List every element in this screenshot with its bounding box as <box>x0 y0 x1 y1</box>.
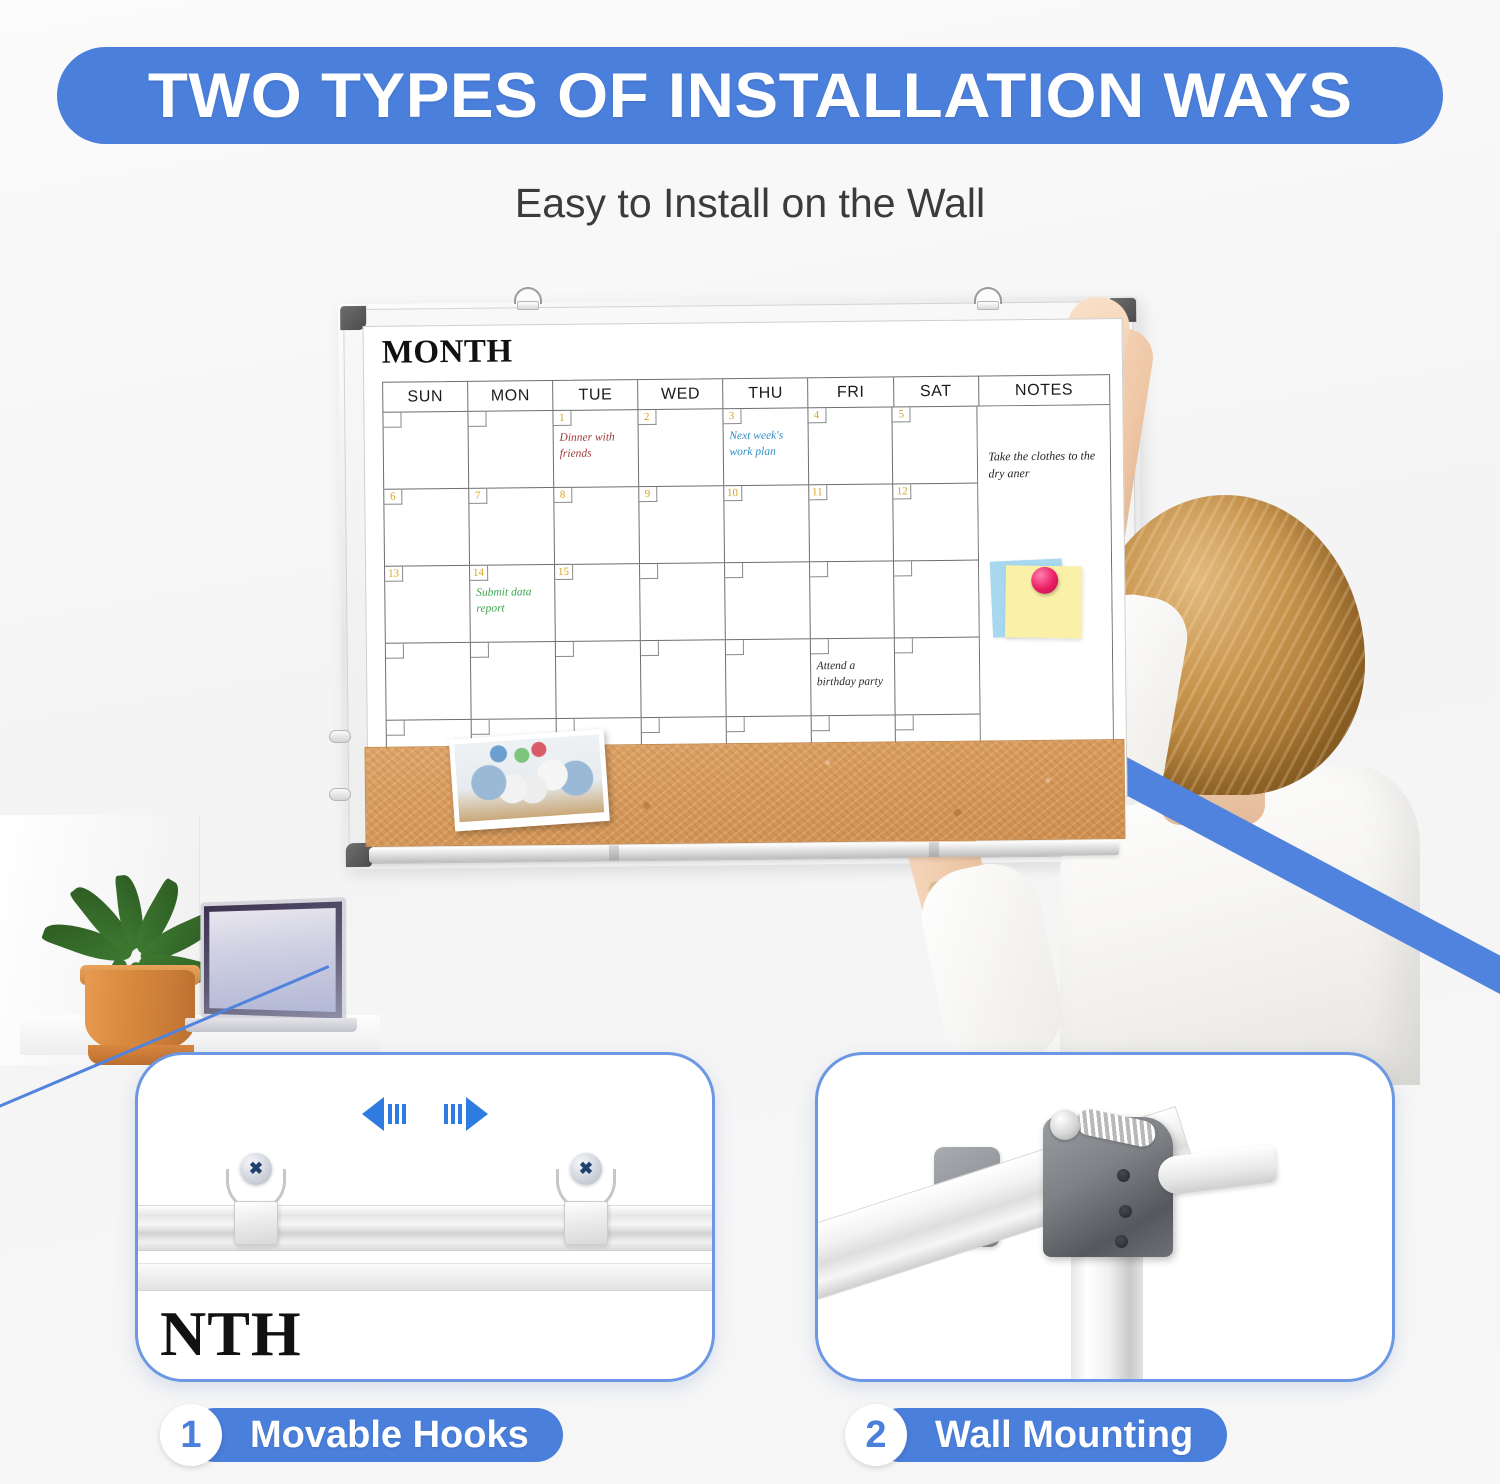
arrow-right-tail <box>444 1104 462 1124</box>
calendar-column-header-fri: FRI <box>809 377 894 407</box>
calendar-day-cell <box>556 641 642 718</box>
calendar-day-cell <box>468 411 554 488</box>
wall-hanger-right-icon <box>969 287 1007 309</box>
page-title: TWO TYPES OF INSTALLATION WAYS <box>148 60 1353 132</box>
calendar-week-row: 6789101112 <box>384 484 979 567</box>
calendar-day-cell <box>895 638 981 715</box>
screw-cross-icon: ✖ <box>247 1160 265 1178</box>
notes-column: Take the clothes to the dry aner <box>978 405 1114 790</box>
calendar-day-cell <box>810 561 896 638</box>
calendar-day-cell <box>894 561 980 638</box>
calendar-day-number: 1 <box>553 411 571 426</box>
panel-wall-mounting <box>815 1052 1395 1382</box>
bracket-hole <box>1115 1235 1128 1248</box>
header-banner: TWO TYPES OF INSTALLATION WAYS <box>57 47 1443 144</box>
calendar-surface: MONTH SUNMONTUEWEDTHUFRISATNOTES 1Dinner… <box>363 318 1128 805</box>
calendar-day-number <box>894 561 912 576</box>
calendar-event-note: Submit data report <box>476 585 551 617</box>
calendar-day-cell: 13 <box>385 566 471 643</box>
calendar-event-note: Next week's work plan <box>729 428 804 460</box>
calendar-week-row: 1Dinner with friends23Next week's work p… <box>383 407 978 490</box>
screw-icon <box>1050 1110 1080 1140</box>
screw-icon: ✖ <box>240 1153 272 1185</box>
aluminum-post <box>1071 1245 1143 1382</box>
calendar-day-number: 13 <box>385 567 403 582</box>
caption-label: Wall Mounting <box>935 1414 1193 1457</box>
calendar-day-cell: 1Dinner with friends <box>553 410 639 487</box>
calendar-day-number <box>471 643 489 658</box>
arrow-right-icon <box>444 1097 488 1131</box>
calendar-column-header-wed: WED <box>638 379 723 409</box>
side-hook-upper-icon <box>329 730 351 743</box>
caption-pill: Wall Mounting <box>873 1408 1227 1462</box>
calendar-column-header-tue: TUE <box>553 380 638 410</box>
calendar-day-number: 7 <box>469 489 487 504</box>
calendar-day-cell: 3Next week's work plan <box>723 408 809 485</box>
caption-label: Movable Hooks <box>250 1414 529 1457</box>
calendar-day-number <box>468 412 486 427</box>
calendar-column-header-sun: SUN <box>383 382 468 412</box>
calendar-day-number <box>810 639 828 654</box>
calendar-day-number <box>641 718 659 733</box>
calendar-day-number <box>641 641 659 656</box>
caption-number-badge: 1 <box>160 1404 222 1466</box>
calendar-event-note: Dinner with friends <box>559 430 634 462</box>
calendar-day-number: 2 <box>638 410 656 425</box>
calendar-day-number <box>725 640 743 655</box>
calendar-day-number <box>386 644 404 659</box>
calendar-column-header-notes: NOTES <box>979 375 1110 405</box>
calendar-day-cell: 9 <box>639 486 725 563</box>
whiteboard-calendar: MONTH SUNMONTUEWEDTHUFRISATNOTES 1Dinner… <box>341 300 1141 865</box>
sticky-notes-group <box>991 555 1092 648</box>
bracket-hole <box>1119 1205 1132 1218</box>
calendar-column-header-sat: SAT <box>894 377 979 407</box>
hook-clip <box>234 1201 278 1245</box>
calendar-day-cell: 6 <box>384 489 470 566</box>
calendar-week-row: 1314Submit data report15 <box>385 561 980 644</box>
slide-direction-arrows <box>362 1097 488 1131</box>
partial-month-text: NTH <box>160 1297 302 1371</box>
screw-icon: ✖ <box>570 1153 602 1185</box>
calendar-day-cell: 4 <box>808 407 894 484</box>
calendar-column-header-thu: THU <box>723 378 808 408</box>
tray-clip-left <box>609 845 619 860</box>
tray-clip-right <box>929 842 939 857</box>
calendar-day-number <box>472 720 490 735</box>
calendar-week-row: Attend a birthday party <box>386 638 981 721</box>
calendar-day-cell: 14Submit data report <box>470 565 556 642</box>
calendar-day-number: 9 <box>639 487 657 502</box>
notes-handwriting: Take the clothes to the dry aner <box>988 447 1102 483</box>
calendar-day-number <box>811 716 829 731</box>
panel-movable-hooks: ✖ ✖ NTH <box>135 1052 715 1382</box>
calendar-day-number: 6 <box>384 490 402 505</box>
bracket-hole <box>1117 1169 1130 1182</box>
screw-cross-icon: ✖ <box>577 1160 595 1178</box>
page-subtitle: Easy to Install on the Wall <box>0 180 1500 227</box>
side-hook-lower-icon <box>329 788 351 801</box>
calendar-day-number: 10 <box>724 486 742 501</box>
person-sleeve-lower <box>913 855 1072 1076</box>
movable-hook-right: ✖ <box>554 1153 618 1245</box>
calendar-day-number <box>387 721 405 736</box>
movable-hook-left: ✖ <box>224 1153 288 1245</box>
calendar-day-number <box>640 564 658 579</box>
calendar-day-number <box>556 642 574 657</box>
calendar-day-cell <box>471 642 557 719</box>
calendar-day-number: 15 <box>555 565 573 580</box>
calendar-day-cell: 2 <box>638 409 724 486</box>
calendar-day-cell: 10 <box>724 485 810 562</box>
cork-board <box>364 739 1125 847</box>
calendar-day-cell: 8 <box>554 487 640 564</box>
calendar-day-number: 11 <box>809 485 827 500</box>
calendar-day-number <box>895 638 913 653</box>
calendar-day-cell: 7 <box>469 488 555 565</box>
calendar-day-cell <box>725 562 811 639</box>
frame-rail-top <box>135 1205 715 1251</box>
wall-hanger-left-icon <box>509 287 547 309</box>
calendar-day-cell: 11 <box>809 484 895 561</box>
calendar-day-number: 3 <box>723 409 741 424</box>
hanger-base <box>977 301 999 310</box>
pinned-photo <box>449 729 610 832</box>
hook-clip <box>564 1201 608 1245</box>
calendar-grid: SUNMONTUEWEDTHUFRISATNOTES 1Dinner with … <box>382 374 1114 798</box>
hanger-base <box>517 301 539 310</box>
calendar-day-number: 5 <box>893 407 911 422</box>
calendar-day-number: 14 <box>470 566 488 581</box>
calendar-title: MONTH <box>382 333 513 371</box>
calendar-day-cell: Attend a birthday party <box>810 638 896 715</box>
room-scene: MONTH SUNMONTUEWEDTHUFRISATNOTES 1Dinner… <box>0 255 1500 1065</box>
calendar-day-number: 8 <box>554 488 572 503</box>
calendar-day-cell <box>383 412 469 489</box>
infographic-page: TWO TYPES OF INSTALLATION WAYS Easy to I… <box>0 0 1500 1484</box>
calendar-day-cell <box>640 563 726 640</box>
calendar-day-number <box>896 715 914 730</box>
calendar-column-header-mon: MON <box>468 381 553 411</box>
calendar-day-number: 12 <box>894 484 912 499</box>
frame-rail-bottom <box>135 1263 715 1291</box>
calendar-day-cell: 12 <box>894 484 980 561</box>
photo-image <box>454 734 604 822</box>
calendar-day-number <box>725 563 743 578</box>
calendar-day-number <box>726 717 744 732</box>
arrow-left-tail <box>388 1104 406 1124</box>
calendar-day-cell: 5 <box>893 407 979 484</box>
calendar-day-cell: 15 <box>555 564 641 641</box>
calendar-event-note: Attend a birthday party <box>817 658 892 690</box>
caption-pill: Movable Hooks <box>188 1408 563 1462</box>
calendar-day-cell <box>725 639 811 716</box>
arrow-right-head <box>466 1097 488 1131</box>
calendar-day-number <box>810 562 828 577</box>
caption-number-badge: 2 <box>845 1404 907 1466</box>
arrow-left-head <box>362 1097 384 1131</box>
arrow-left-icon <box>362 1097 406 1131</box>
calendar-day-cell <box>386 643 472 720</box>
calendar-day-number: 4 <box>808 408 826 423</box>
calendar-day-cell <box>641 640 727 717</box>
calendar-day-number <box>383 413 401 428</box>
